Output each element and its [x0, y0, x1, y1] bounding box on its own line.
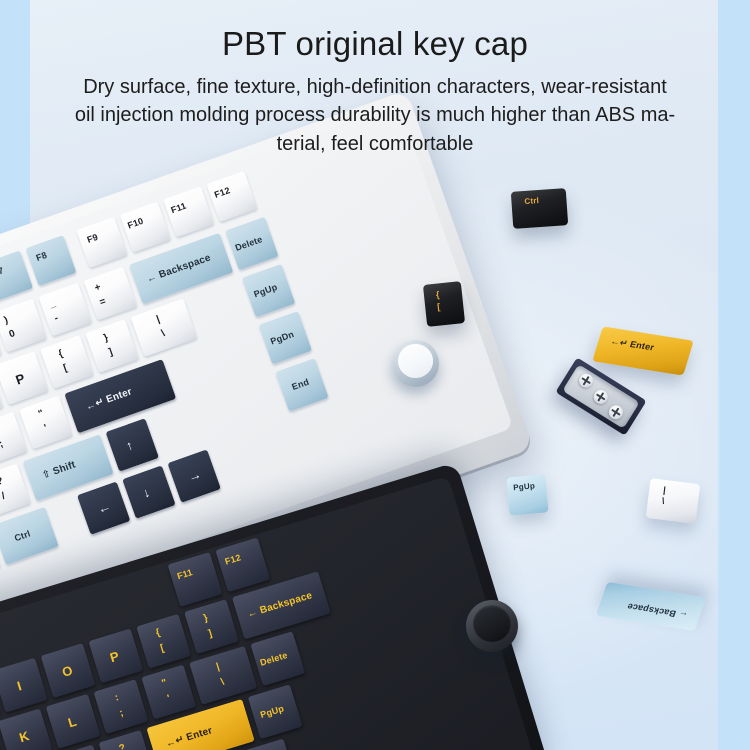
keycap-stem-icon: [606, 403, 625, 422]
loose-keycap-pgup[interactable]: PgUp: [506, 474, 548, 515]
dark-keyboard-volume-knob[interactable]: [466, 600, 518, 652]
product-image: PBT original key cap Dry surface, fine t…: [0, 0, 750, 750]
loose-keycap-ctrl[interactable]: Ctrl: [511, 188, 568, 229]
white-keyboard-volume-knob[interactable]: [392, 340, 439, 387]
knob-face: [398, 344, 433, 378]
keycap-legend: ←↵ Enter: [609, 337, 655, 353]
keycap-stem-icon: [591, 387, 610, 406]
page-title: PBT original key cap: [0, 25, 750, 63]
page-subtitle: Dry surface, fine texture, high-definiti…: [17, 73, 733, 158]
subtitle-line-2: oil injection molding process durability…: [17, 101, 733, 129]
keycap-legend: ← Backspace: [626, 602, 689, 620]
keycap-legend: PgUp: [513, 482, 535, 492]
marketing-copy: PBT original key cap Dry surface, fine t…: [0, 0, 750, 158]
keycap-stem-icon: [576, 371, 595, 390]
subtitle-line-1: Dry surface, fine texture, high-definiti…: [17, 73, 733, 101]
knob-face: [473, 605, 511, 642]
subtitle-line-3: terial, feel comfortable: [17, 130, 733, 158]
loose-keycap-backslash[interactable]: | \: [646, 478, 701, 524]
loose-keycap-bracket[interactable]: { [: [423, 281, 465, 327]
keycap-legend: Ctrl: [524, 197, 539, 206]
